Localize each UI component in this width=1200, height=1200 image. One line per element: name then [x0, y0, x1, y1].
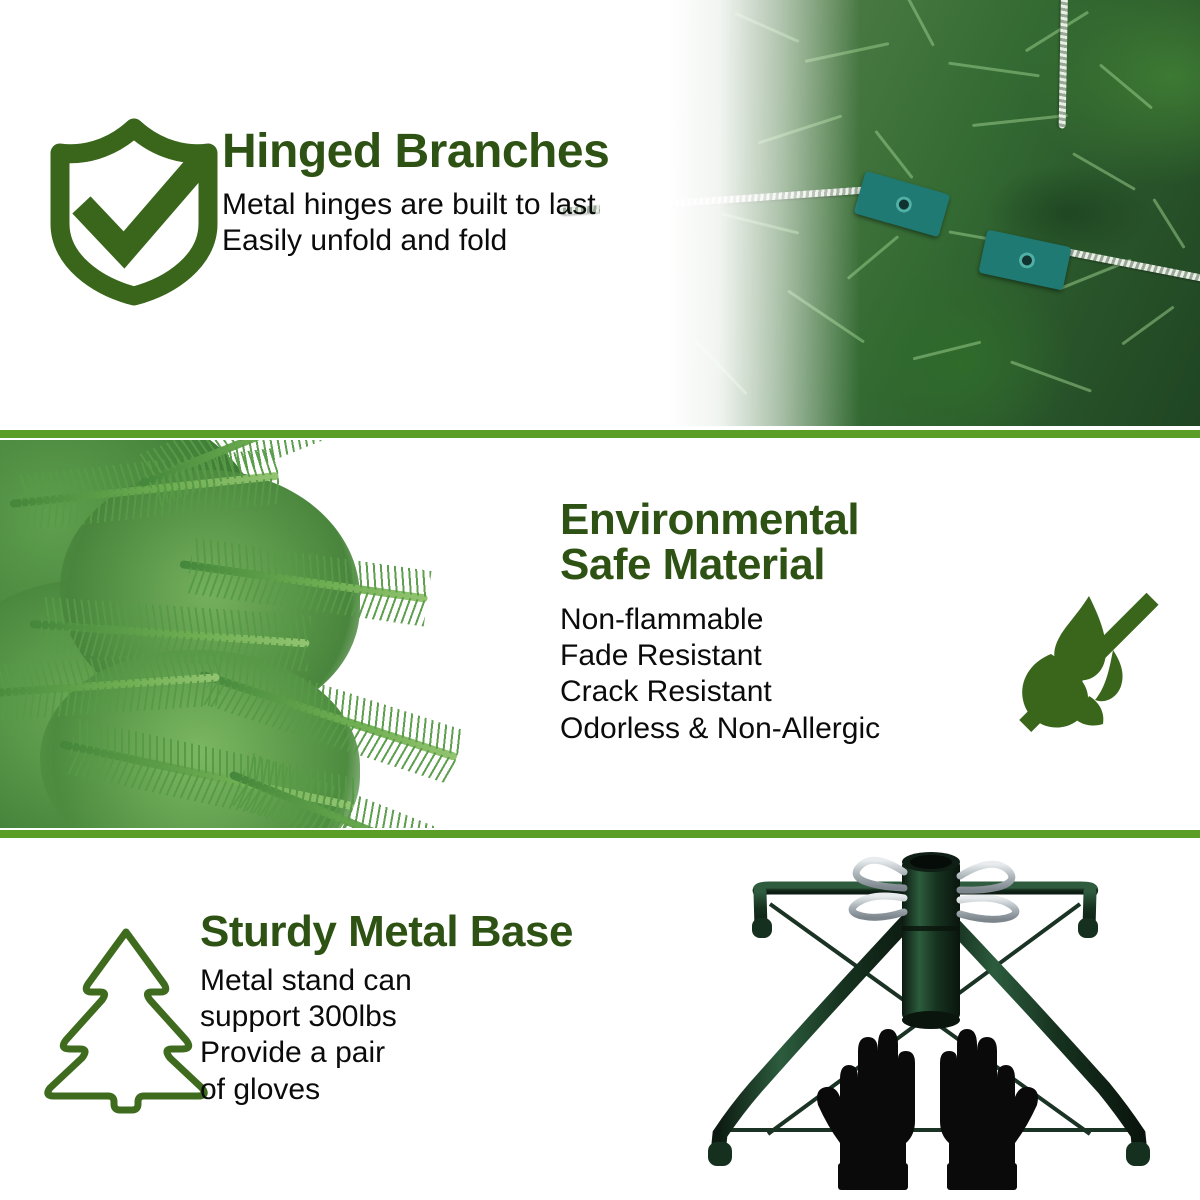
infographic-page: Hinged Branches Metal hinges are built t… [0, 0, 1200, 1200]
christmas-tree-branches-photo [0, 440, 560, 828]
metal-tree-stand-and-gloves-photo [660, 842, 1200, 1200]
pair-of-gloves-photo [810, 1017, 1045, 1192]
hinged-branches-text-block: Hinged Branches Metal hinges are built t… [222, 128, 692, 260]
section-title: Sturdy Metal Base [200, 910, 640, 955]
divider-bar-2 [0, 830, 1200, 838]
section-body: Non-flammable Fade Resistant Crack Resis… [560, 602, 1020, 747]
section-title: Environmental Safe Material [560, 498, 1020, 588]
environmental-text-block: Environmental Safe Material Non-flammabl… [560, 498, 1020, 747]
tree-branch [179, 560, 428, 603]
section-hinged-branches: Hinged Branches Metal hinges are built t… [0, 0, 1200, 426]
section-title: Hinged Branches [222, 128, 692, 177]
glove-right [940, 1029, 1038, 1190]
stand-center-cylinder [902, 852, 960, 1029]
tree-branch [0, 673, 220, 698]
tree-branch [30, 620, 310, 648]
shield-check-icon [48, 120, 220, 300]
section-body: Metal hinges are built to last Easily un… [222, 187, 692, 260]
section-sturdy-metal-base: Sturdy Metal Base Metal stand can suppor… [0, 842, 1200, 1200]
no-flame-icon [1005, 592, 1165, 742]
divider-bar-1 [0, 430, 1200, 438]
section-body: Metal stand can support 300lbs Provide a… [200, 963, 640, 1108]
christmas-tree-outline-icon [36, 922, 216, 1117]
glove-left [817, 1029, 915, 1190]
sturdy-metal-base-text-block: Sturdy Metal Base Metal stand can suppor… [200, 910, 640, 1108]
